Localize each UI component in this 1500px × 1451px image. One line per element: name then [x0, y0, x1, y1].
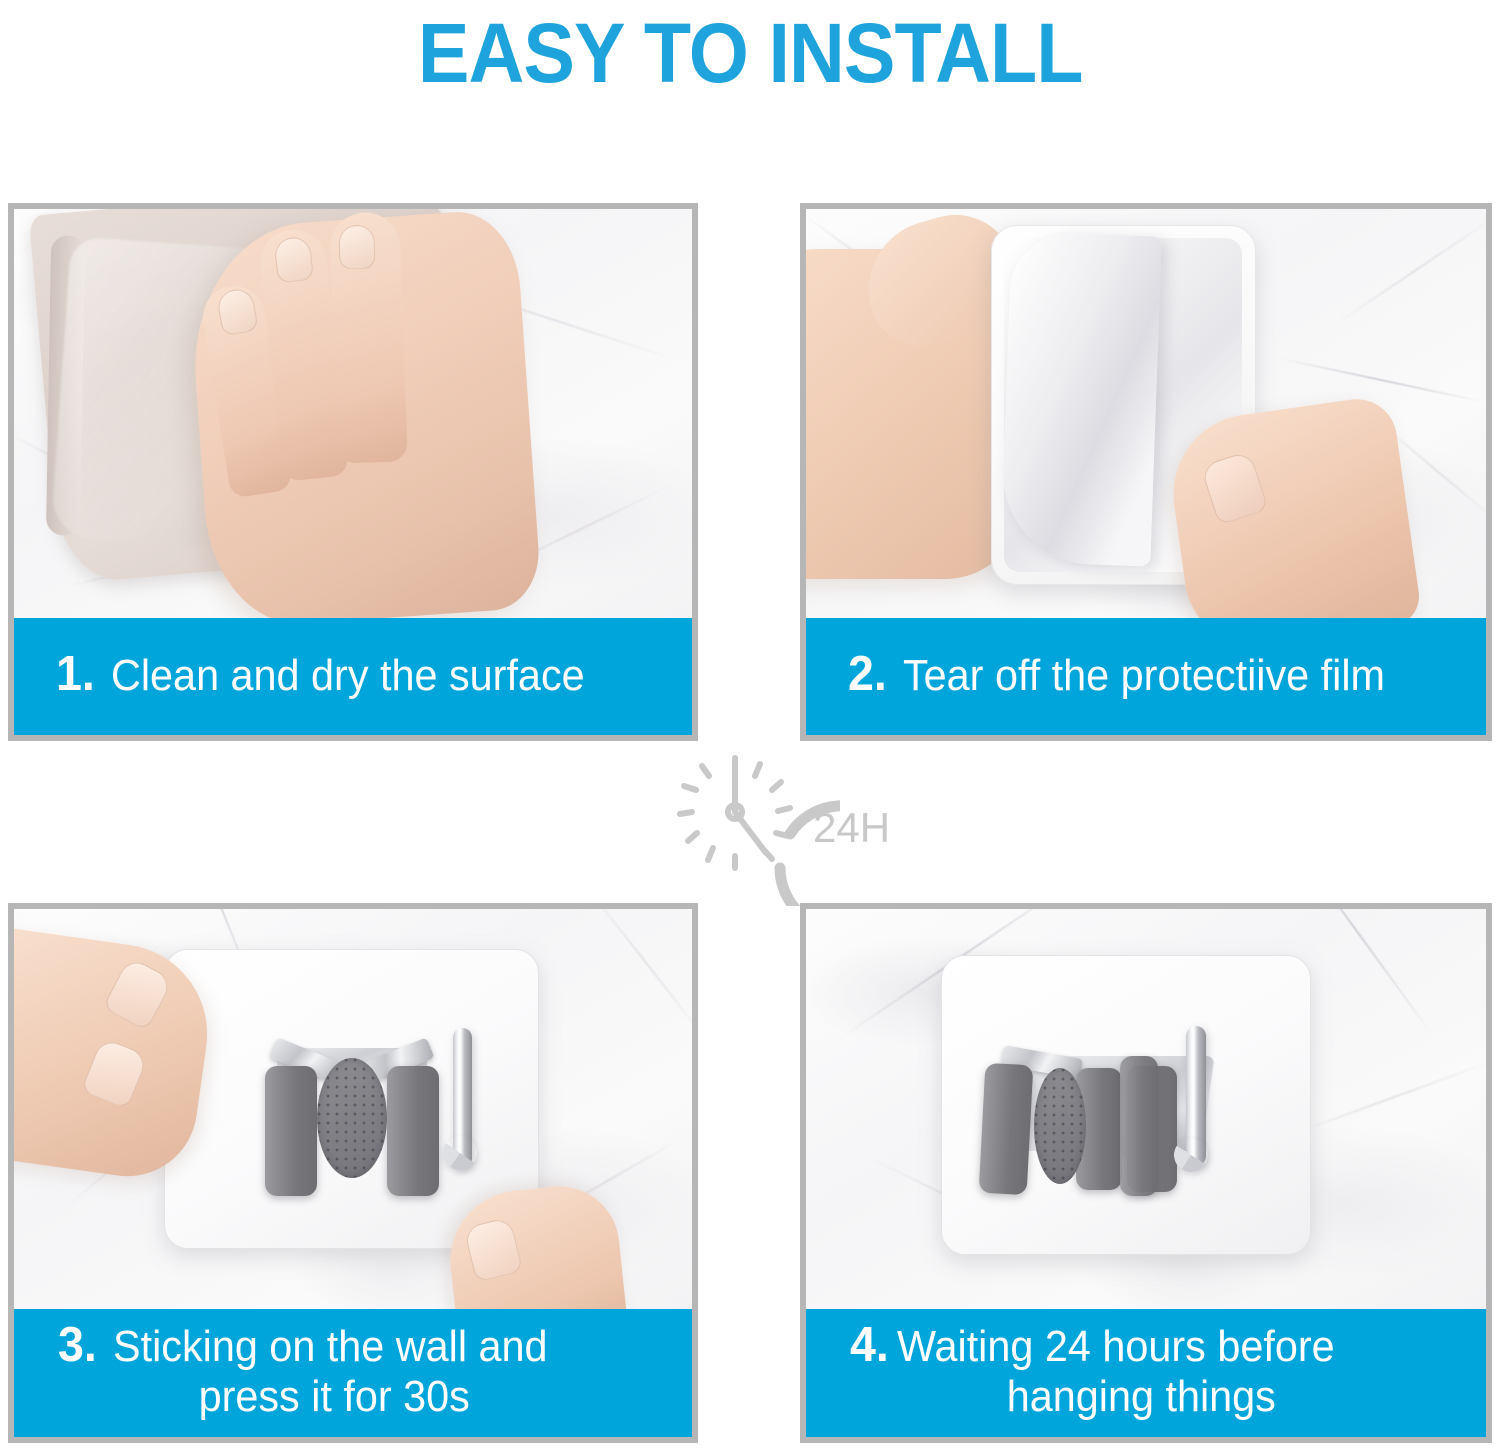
- step-2-text: Tear off the protectiive film: [903, 654, 1385, 699]
- protective-film: [1000, 231, 1161, 566]
- step-1-number: 1.: [56, 650, 95, 699]
- page-title: EASY TO INSTALL: [418, 11, 1083, 95]
- roller-left: [979, 1063, 1034, 1195]
- badge-label: 24H: [813, 804, 890, 852]
- step-3-caption: 3. Sticking on the wall and press it for…: [14, 1309, 692, 1437]
- step-3-text-line1: Sticking on the wall and: [113, 1325, 548, 1370]
- infographic-page: EASY TO INSTALL: [0, 0, 1500, 1451]
- step-3-text-line2: press it for 30s: [48, 1372, 659, 1421]
- step-2-caption: 2. Tear off the protectiive film: [806, 618, 1486, 735]
- step-4-text-line1: Waiting 24 hours before: [897, 1325, 1335, 1370]
- roller-outer: [1120, 1056, 1158, 1196]
- page-title-bar: EASY TO INSTALL: [0, 0, 1500, 105]
- step-4-text-line2: hanging things: [840, 1372, 1453, 1421]
- grip-pad: [1034, 1068, 1086, 1184]
- hook-curve: [440, 1133, 479, 1172]
- step-panel-3: 3. Sticking on the wall and press it for…: [8, 903, 698, 1443]
- clock-icon: [650, 726, 840, 906]
- step-3-number: 3.: [58, 1321, 97, 1370]
- step-panel-1: 1. Clean and dry the surface: [8, 203, 698, 741]
- step-1-text: Clean and dry the surface: [111, 654, 585, 699]
- step-4-caption: 4. Waiting 24 hours before hanging thing…: [806, 1309, 1486, 1437]
- step-1-caption: 1. Clean and dry the surface: [14, 618, 692, 735]
- roller-left: [265, 1066, 317, 1196]
- step-3-photo: [14, 909, 692, 1309]
- adhesive-sticker: [941, 955, 1311, 1255]
- step-2-number: 2.: [848, 650, 887, 699]
- step-panel-4: 4. Waiting 24 hours before hanging thing…: [800, 903, 1492, 1443]
- wait-24h-badge: 24H: [650, 726, 900, 906]
- step-2-photo: [806, 209, 1486, 624]
- step-1-photo: [14, 209, 692, 624]
- hand: [185, 209, 542, 624]
- roller-right: [387, 1066, 439, 1196]
- step-panel-2: 2. Tear off the protectiive film: [800, 203, 1492, 741]
- grip-pad: [317, 1058, 387, 1178]
- step-4-number: 4.: [850, 1321, 889, 1370]
- step-4-photo: [806, 909, 1486, 1309]
